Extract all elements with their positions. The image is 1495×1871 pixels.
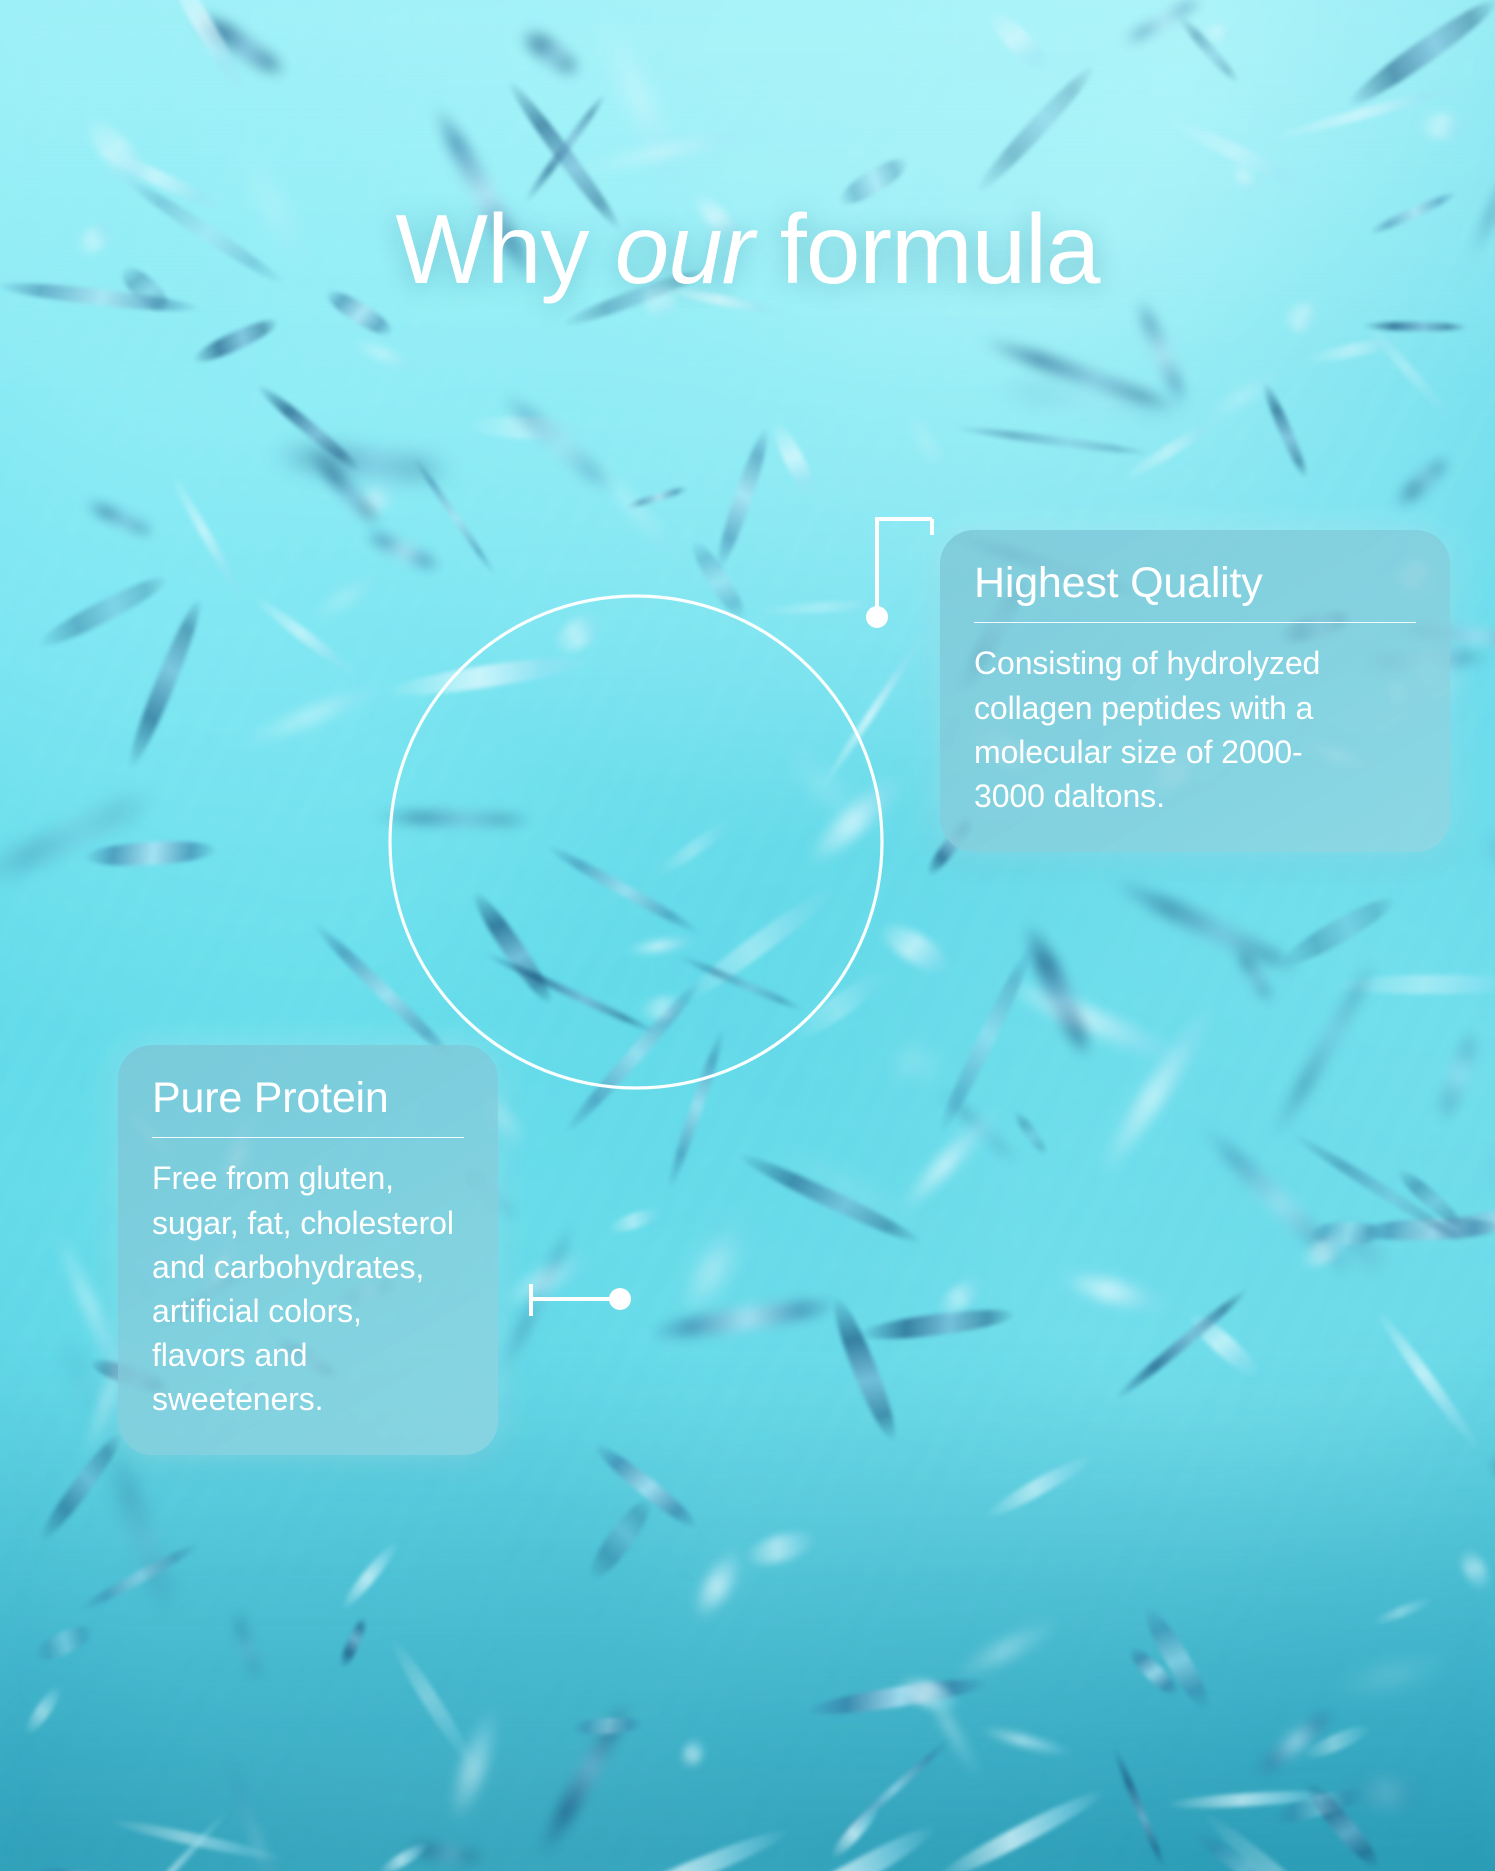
- card-divider: [152, 1137, 464, 1138]
- title-emphasis: our: [615, 194, 754, 304]
- card-title: Pure Protein: [152, 1075, 464, 1121]
- title-part-1: Why: [396, 194, 615, 304]
- title-part-2: formula: [753, 194, 1099, 304]
- info-card-pure-protein[interactable]: Pure Protein Free from gluten, sugar, fa…: [118, 1045, 498, 1455]
- card-body: Consisting of hydrolyzed collagen peptid…: [974, 641, 1334, 818]
- card-divider: [974, 622, 1416, 623]
- card-title: Highest Quality: [974, 560, 1416, 606]
- card-body: Free from gluten, sugar, fat, cholestero…: [152, 1156, 464, 1421]
- page-title: Why our formula: [0, 198, 1495, 301]
- info-card-highest-quality[interactable]: Highest Quality Consisting of hydrolyzed…: [940, 530, 1450, 852]
